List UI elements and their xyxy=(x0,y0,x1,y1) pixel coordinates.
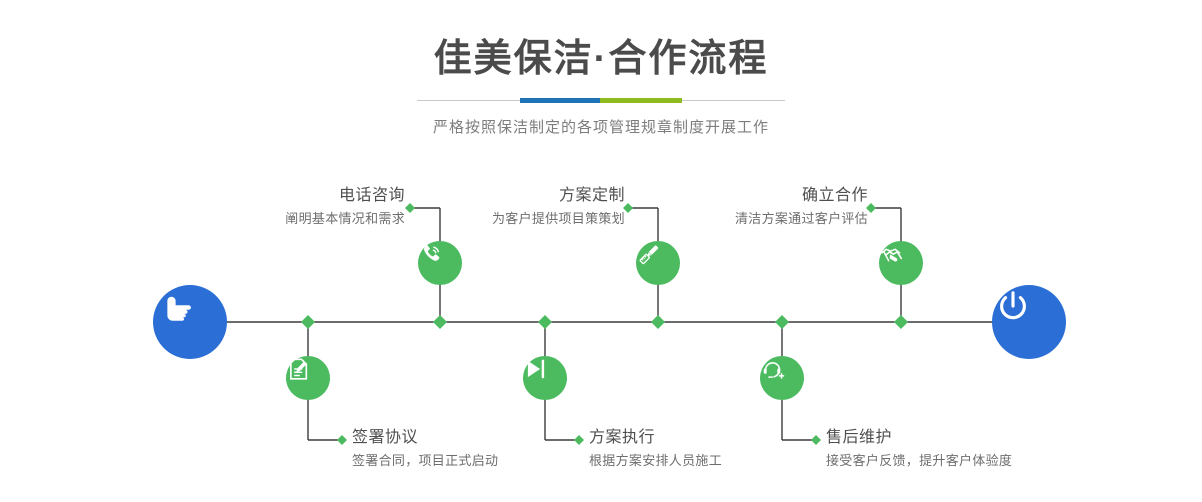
step-desc: 阐明基本情况和需求 xyxy=(150,209,405,229)
handshake-icon xyxy=(879,241,907,269)
step-icon-sign-agreement[interactable] xyxy=(286,356,330,400)
step-label-phone-consult: 电话咨询 阐明基本情况和需求 xyxy=(150,186,405,229)
flow-end-node[interactable] xyxy=(992,285,1066,359)
timeline-marker-diamond xyxy=(301,315,315,329)
timeline-marker-diamond xyxy=(538,315,552,329)
step-icon-after-sales[interactable] xyxy=(760,356,804,400)
label-marker-diamond xyxy=(337,435,347,445)
timeline-marker-diamond xyxy=(894,315,908,329)
label-markers xyxy=(337,203,876,445)
step-label-establish-cooperation: 确立合作 清洁方案通过客户评估 xyxy=(613,186,868,229)
step-desc: 为客户提供项目策策划 xyxy=(370,209,625,229)
document-edit-icon xyxy=(286,356,312,382)
timeline-marker-diamond xyxy=(775,315,789,329)
step-title: 电话咨询 xyxy=(150,186,405,206)
process-flow-diagram: 电话咨询 阐明基本情况和需求 方案定制 为客户提供项目策策划 确立合作 清洁方案… xyxy=(0,0,1202,502)
phone-call-icon xyxy=(418,241,444,267)
step-label-plan-customize: 方案定制 为客户提供项目策策划 xyxy=(370,186,625,229)
connector-lines xyxy=(0,0,1202,502)
ruler-pencil-icon xyxy=(636,241,662,267)
step-desc: 接受客户反馈，提升客户体验度 xyxy=(826,451,1146,471)
step-icon-establish-cooperation[interactable] xyxy=(879,241,923,285)
step-title: 确立合作 xyxy=(613,186,868,206)
power-icon xyxy=(992,285,1034,327)
step-label-after-sales: 售后维护 接受客户反馈，提升客户体验度 xyxy=(826,428,1146,471)
customer-service-icon xyxy=(760,356,786,382)
timeline-marker-diamond xyxy=(433,315,447,329)
step-desc: 清洁方案通过客户评估 xyxy=(613,209,868,229)
timeline-marker-diamond xyxy=(651,315,665,329)
play-execute-icon xyxy=(523,356,549,382)
pointing-hand-icon xyxy=(153,285,199,331)
step-icon-plan-customize[interactable] xyxy=(636,241,680,285)
step-title: 售后维护 xyxy=(826,428,1146,448)
step-icon-plan-execute[interactable] xyxy=(523,356,567,400)
step-icon-phone-consult[interactable] xyxy=(418,241,462,285)
flow-start-node[interactable] xyxy=(153,285,227,359)
step-title: 方案定制 xyxy=(370,186,625,206)
